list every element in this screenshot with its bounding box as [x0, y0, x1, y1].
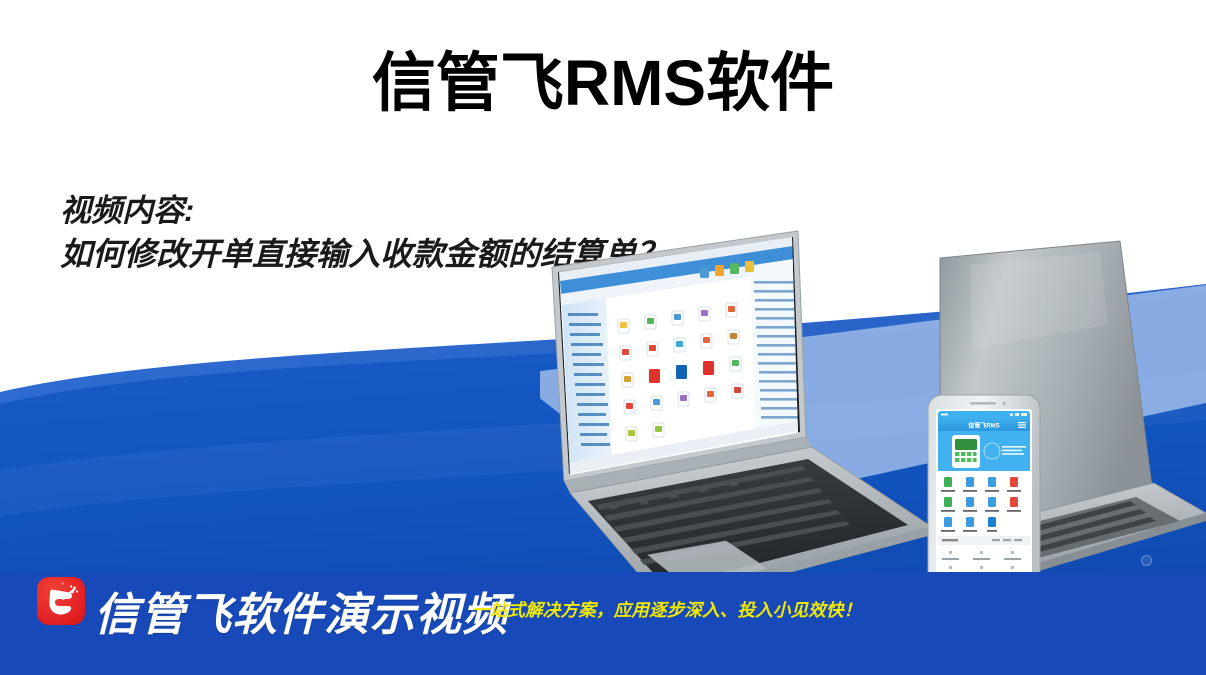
- brand-tagline: 一站式解决方案，应用逐步深入、投入小见效快！: [472, 597, 861, 622]
- device-mockup-group: 信管飞RMS: [540, 225, 1206, 625]
- svg-text:信管飞RMS: 信管飞RMS: [968, 422, 999, 430]
- brand-name: 信管飞软件演示视频: [94, 578, 508, 643]
- brand-logo-icon: [37, 577, 85, 625]
- slide-canvas: 信管飞RMS软件 视频内容: 如何修改开单直接输入收款金额的结算单？: [0, 0, 1206, 675]
- decorative-dot: [1141, 555, 1152, 566]
- page-title: 信管飞RMS软件: [0, 48, 1206, 118]
- video-content-label: 视频内容:: [60, 185, 194, 230]
- phone-screen: 信管飞RMS: [938, 411, 1030, 587]
